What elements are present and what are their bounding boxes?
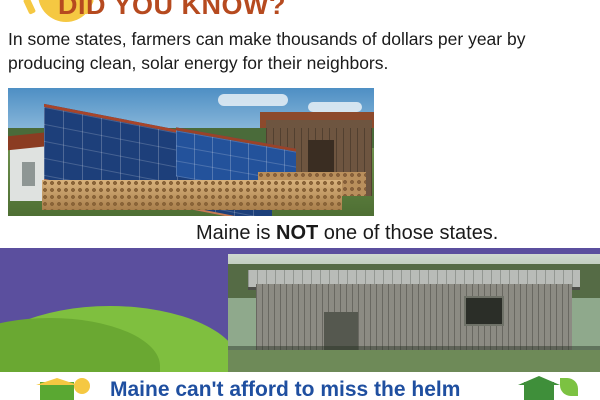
- solar-barn-photo: [8, 88, 374, 216]
- intro-paragraph: In some states, farmers can make thousan…: [8, 27, 594, 75]
- top-banner: DID YOU KNOW?: [0, 0, 600, 22]
- maine-suffix: one of those states.: [318, 222, 498, 244]
- cloud-shape: [308, 102, 362, 112]
- photo-woodpile: [42, 180, 342, 210]
- photo-barn-window: [464, 296, 504, 326]
- green-house-leaf-logo-icon: [516, 374, 586, 400]
- photo-grass: [228, 350, 600, 372]
- photo-barn-opening: [308, 140, 334, 174]
- cloud-shape: [218, 94, 288, 106]
- logo-sun-shape: [74, 378, 90, 394]
- logo-roof-shape: [518, 376, 560, 385]
- barn-sun-logo-icon: [30, 376, 94, 400]
- sun-ray-icon: [23, 0, 36, 15]
- logo-leaf-shape: [560, 378, 578, 396]
- photo-barn-siding: [256, 284, 572, 354]
- old-barn-photo: [228, 254, 600, 372]
- footer-headline: Maine can't afford to miss the helm: [110, 378, 460, 400]
- maine-statement: Maine is NOT one of those states.: [196, 222, 498, 245]
- page-title: DID YOU KNOW?: [58, 0, 286, 21]
- slide-canvas: DID YOU KNOW? In some states, farmers ca…: [0, 0, 600, 400]
- maine-prefix: Maine is: [196, 222, 276, 244]
- maine-emphasis: NOT: [276, 222, 318, 244]
- photo-house-door: [22, 162, 35, 186]
